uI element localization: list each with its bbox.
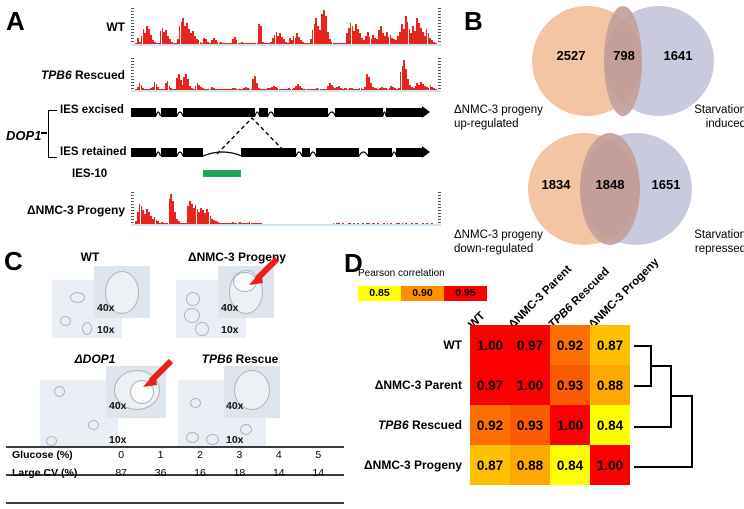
heatmap-cell-0-0: 1.00 [470, 325, 510, 365]
colorbar-segment-0.90: 0.90 [401, 286, 444, 301]
heatmap-cell-1-3: 0.88 [590, 365, 630, 405]
heatmap-cell-3-1: 0.88 [510, 445, 550, 485]
heatmap-cell-0-1: 0.97 [510, 325, 550, 365]
heatmap-row-label-0: WT [340, 338, 462, 352]
gene-row-label-excised: IES excised [60, 104, 124, 116]
coverage-bar [426, 223, 428, 224]
coverage-bar [411, 223, 413, 224]
coverage-bar [405, 223, 407, 224]
gene-row-label-retained: IES retained [60, 146, 126, 158]
coverage-bar [435, 89, 437, 90]
coverage-bar [422, 223, 424, 224]
table-cell: 3 [220, 446, 259, 464]
venn1-overlap-count: 798 [604, 48, 644, 63]
venn1-left-label: ΔNMC-3 progenyup-regulated [454, 103, 584, 132]
table-cell: 4 [259, 446, 298, 464]
heatmap-cell-3-3: 1.00 [590, 445, 630, 485]
heatmap-row-label-1: ΔNMC-3 Parent [340, 378, 462, 392]
red-arrow-dop1 [140, 358, 174, 388]
panel-a: A WT TPB6 Rescued DOP1 IES excised IES r… [0, 0, 460, 240]
heatmap-cell-3-2: 0.84 [550, 445, 590, 485]
ies10-bar [203, 170, 242, 177]
table-cell: 5 [299, 446, 338, 464]
venn2-left-count: 1834 [530, 177, 582, 192]
table-cell: 87 [101, 464, 140, 482]
table-cell: 2 [180, 446, 219, 464]
heatmap-row-label-2: TPB6 Rescued [340, 418, 462, 432]
heatmap-cell-2-2: 1.00 [550, 405, 590, 445]
heatmap-cell-0-2: 0.92 [550, 325, 590, 365]
heatmap-cell-2-0: 0.92 [470, 405, 510, 445]
coverage-bar [402, 223, 404, 224]
venn1-left-count: 2527 [540, 48, 602, 63]
coverage-bar [377, 223, 379, 224]
coverage-bar [342, 223, 344, 224]
coverage-bar [362, 223, 364, 224]
red-arrow-progeny [246, 256, 280, 286]
track-label-nmc3-progeny: ΔNMC-3 Progeny [10, 203, 125, 217]
coverage-bar [416, 223, 418, 224]
venn1-right-count: 1641 [648, 48, 708, 63]
glucose-cv-table: Glucose (%)012345Large CV (%)87361618141… [6, 446, 338, 482]
table-cell: 14 [299, 464, 338, 482]
heatmap-cell-2-1: 0.93 [510, 405, 550, 445]
table-cell: 1 [141, 446, 180, 464]
coverage-bar [353, 223, 355, 224]
panel-c: C WT ΔNMC-3 Progeny ΔDOP1 TPB6 Rescue 40… [0, 240, 350, 509]
coverage-bar [435, 43, 437, 44]
panel-b: B 25277981641 ΔNMC-3 progenyup-regulated… [460, 0, 744, 250]
mag-label-wt-10x: 10x [97, 324, 115, 336]
table-cell: 18 [220, 464, 259, 482]
heatmap-col-label-3: ΔNMC-3 Progeny [587, 256, 662, 331]
mag-label-progeny-40x: 40x [221, 302, 239, 314]
coverage-bar [431, 223, 433, 224]
coverage-bar [398, 223, 400, 224]
mag-label-progeny-10x: 10x [221, 324, 239, 336]
panel-c-letter: C [4, 248, 23, 274]
mag-label-dop1-40x: 40x [109, 400, 127, 412]
micrograph-title-tpb6-rescue: TPB6 Rescue [175, 352, 305, 366]
coverage-bar [357, 223, 359, 224]
micrograph-title-nmc3-progeny: ΔNMC-3 Progeny [162, 250, 312, 264]
coverage-bar [349, 223, 351, 224]
coverage-bar [390, 223, 392, 224]
tpb6-rescued-coverage-track [131, 58, 441, 92]
table-row-header: Glucose (%) [6, 446, 101, 464]
mag-label-wt-40x: 40x [97, 302, 115, 314]
panel-a-letter: A [6, 8, 25, 34]
track-label-wt: WT [30, 20, 125, 34]
mag-label-dop1-10x: 10x [109, 434, 127, 446]
venn1-right-label: Starvationinduced [668, 103, 744, 132]
coverage-bar [260, 223, 262, 224]
table-cell: 14 [259, 464, 298, 482]
dendrogram [634, 325, 718, 487]
pearson-colorbar: 0.850.900.95 [358, 283, 487, 301]
micrograph-title-dop1: ΔDOP1 [40, 352, 150, 366]
mag-label-tpb6-10x: 10x [226, 434, 244, 446]
table-row: Glucose (%)012345 [6, 446, 338, 464]
table-cell: 36 [141, 464, 180, 482]
heatmap-cell-2-3: 0.84 [590, 405, 630, 445]
colorbar-segment-0.95: 0.95 [444, 286, 487, 301]
gene-label-dop1: DOP1 [6, 128, 41, 143]
venn2-overlap-count: 1848 [584, 177, 636, 192]
table-cell: 0 [101, 446, 140, 464]
heatmap-row-label-3: ΔNMC-3 Progeny [340, 458, 462, 472]
panel-d: D Pearson correlation 0.850.900.95 WTΔNM… [340, 240, 744, 509]
legend-title: Pearson correlation [358, 268, 445, 279]
track-label-tpb6-rescued: TPB6 Rescued [20, 68, 125, 82]
coverage-bar [374, 223, 376, 224]
coverage-bar [338, 223, 340, 224]
table-cell: 16 [180, 464, 219, 482]
heatmap-cell-1-2: 0.93 [550, 365, 590, 405]
mag-label-tpb6-40x: 40x [226, 400, 244, 412]
table-row-header: Large CV (%) [6, 464, 101, 482]
micrograph-title-wt: WT [40, 250, 140, 264]
heatmap-cell-0-3: 0.87 [590, 325, 630, 365]
nmc3-progeny-coverage-track [131, 192, 441, 226]
colorbar-segment-0.85: 0.85 [358, 286, 401, 301]
ies10-label: IES-10 [72, 168, 107, 180]
coverage-bar [333, 223, 335, 224]
coverage-bar [368, 223, 370, 224]
ies-splice-triangle [131, 112, 439, 156]
heatmap-cell-1-0: 0.97 [470, 365, 510, 405]
heatmap-cell-1-1: 1.00 [510, 365, 550, 405]
table-row: Large CV (%)873616181414 [6, 464, 338, 482]
coverage-bar [387, 223, 389, 224]
heatmap-cell-3-0: 0.87 [470, 445, 510, 485]
coverage-bar [383, 223, 385, 224]
panel-b-letter: B [464, 8, 483, 34]
venn2-right-count: 1651 [640, 177, 692, 192]
wt-coverage-track [131, 8, 441, 46]
